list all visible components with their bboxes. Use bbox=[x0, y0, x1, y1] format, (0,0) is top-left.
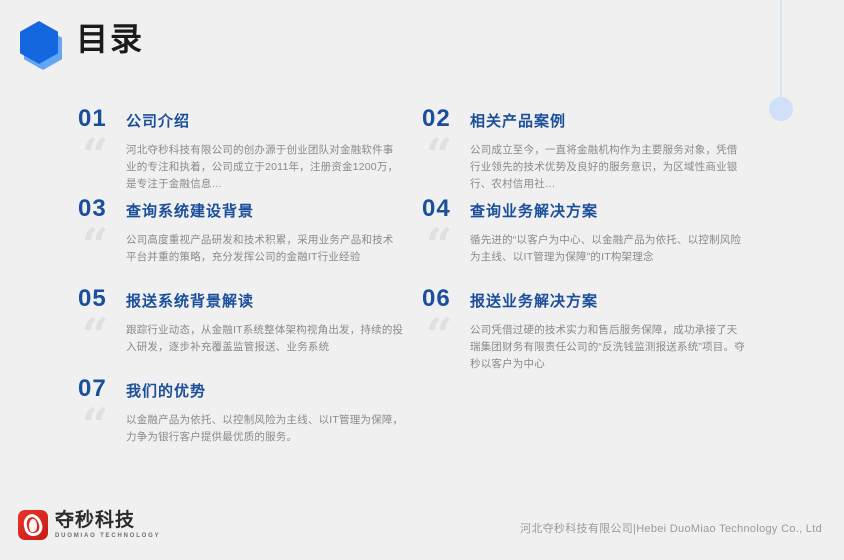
toc-item-06[interactable]: 06 报送业务解决方案 “ 公司凭借过硬的技术实力和售后服务保障，成功承接了天瑞… bbox=[422, 285, 844, 375]
toc-item-body: “ 循先进的“以客户为中心、以金融产品为依托、以控制风险为主线、以IT管理为保障… bbox=[470, 232, 748, 266]
toc-item-body: “ 以金融产品为依托、以控制风险为主线、以IT管理为保障，力争为银行客户提供最优… bbox=[126, 412, 404, 446]
quote-icon: “ bbox=[426, 228, 452, 262]
toc-item-01[interactable]: 01 公司介绍 “ 河北夺秒科技有限公司的创办源于创业团队对金融软件事业的专注和… bbox=[78, 105, 422, 195]
toc-item-body: “ 公司成立至今，一直将金融机构作为主要服务对象，凭借行业领先的技术优势及良好的… bbox=[470, 142, 748, 193]
toc-item-head: 05 报送系统背景解读 bbox=[78, 285, 422, 316]
toc-item-body: “ 跟踪行业动态，从金融IT系统整体架构视角出发，持续的投入研发，逐步补充覆盖监… bbox=[126, 322, 404, 356]
quote-icon: “ bbox=[426, 318, 452, 352]
toc-item-head: 02 相关产品案例 bbox=[422, 105, 844, 136]
toc-item-07[interactable]: 07 我们的优势 “ 以金融产品为依托、以控制风险为主线、以IT管理为保障，力争… bbox=[78, 375, 422, 465]
toc-item-description: 公司凭借过硬的技术实力和售后服务保障，成功承接了天瑞集团财务有限责任公司的“反洗… bbox=[470, 322, 748, 373]
toc-item-title[interactable]: 报送业务解决方案 bbox=[470, 288, 598, 316]
toc-item-description: 循先进的“以客户为中心、以金融产品为依托、以控制风险为主线、以IT管理为保障”的… bbox=[470, 232, 748, 266]
quote-icon: “ bbox=[82, 228, 108, 262]
toc-row: 07 我们的优势 “ 以金融产品为依托、以控制风险为主线、以IT管理为保障，力争… bbox=[0, 375, 844, 465]
toc-column-left: 03 查询系统建设背景 “ 公司高度重视产品研发和技术积累，采用业务产品和技术平… bbox=[0, 195, 422, 285]
toc-item-04[interactable]: 04 查询业务解决方案 “ 循先进的“以客户为中心、以金融产品为依托、以控制风险… bbox=[422, 195, 844, 285]
logo-text-block: 夺秒科技 DUOMIAO TECHNOLOGY bbox=[55, 511, 160, 539]
toc-column-right: 06 报送业务解决方案 “ 公司凭借过硬的技术实力和售后服务保障，成功承接了天瑞… bbox=[422, 285, 844, 375]
hexagon-icon bbox=[18, 18, 64, 66]
slide-header: 目录 bbox=[0, 0, 844, 80]
quote-icon: “ bbox=[82, 138, 108, 172]
toc-item-description: 公司高度重视产品研发和技术积累，采用业务产品和技术平台并重的策略，充分发挥公司的… bbox=[126, 232, 404, 266]
logo-english-name: DUOMIAO TECHNOLOGY bbox=[55, 533, 160, 539]
toc-content: 01 公司介绍 “ 河北夺秒科技有限公司的创办源于创业团队对金融软件事业的专注和… bbox=[0, 105, 844, 465]
toc-item-body: “ 公司凭借过硬的技术实力和售后服务保障，成功承接了天瑞集团财务有限责任公司的“… bbox=[470, 322, 748, 373]
toc-item-title[interactable]: 查询业务解决方案 bbox=[470, 198, 598, 226]
toc-item-title[interactable]: 相关产品案例 bbox=[470, 108, 566, 136]
toc-column-left: 01 公司介绍 “ 河北夺秒科技有限公司的创办源于创业团队对金融软件事业的专注和… bbox=[0, 105, 422, 195]
quote-icon: “ bbox=[82, 408, 108, 442]
toc-item-title[interactable]: 我们的优势 bbox=[126, 378, 206, 406]
toc-row: 01 公司介绍 “ 河北夺秒科技有限公司的创办源于创业团队对金融软件事业的专注和… bbox=[0, 105, 844, 195]
quote-icon: “ bbox=[82, 318, 108, 352]
slide-footer: 夺秒科技 DUOMIAO TECHNOLOGY 河北夺秒科技有限公司|Hebei… bbox=[0, 494, 844, 560]
toc-row: 05 报送系统背景解读 “ 跟踪行业动态，从金融IT系统整体架构视角出发，持续的… bbox=[0, 285, 844, 375]
company-logo: 夺秒科技 DUOMIAO TECHNOLOGY bbox=[18, 510, 160, 540]
page-title: 目录 bbox=[76, 17, 144, 61]
toc-item-05[interactable]: 05 报送系统背景解读 “ 跟踪行业动态，从金融IT系统整体架构视角出发，持续的… bbox=[78, 285, 422, 375]
toc-item-description: 公司成立至今，一直将金融机构作为主要服务对象，凭借行业领先的技术优势及良好的服务… bbox=[470, 142, 748, 193]
toc-item-description: 河北夺秒科技有限公司的创办源于创业团队对金融软件事业的专注和执着，公司成立于20… bbox=[126, 142, 404, 193]
toc-item-head: 04 查询业务解决方案 bbox=[422, 195, 844, 226]
toc-column-right: 02 相关产品案例 “ 公司成立至今，一直将金融机构作为主要服务对象，凭借行业领… bbox=[422, 105, 844, 195]
toc-item-head: 07 我们的优势 bbox=[78, 375, 422, 406]
toc-row: 03 查询系统建设背景 “ 公司高度重视产品研发和技术积累，采用业务产品和技术平… bbox=[0, 195, 844, 285]
toc-item-title[interactable]: 公司介绍 bbox=[126, 108, 190, 136]
toc-item-head: 01 公司介绍 bbox=[78, 105, 422, 136]
toc-item-body: “ 公司高度重视产品研发和技术积累，采用业务产品和技术平台并重的策略，充分发挥公… bbox=[126, 232, 404, 266]
toc-column-left: 05 报送系统背景解读 “ 跟踪行业动态，从金融IT系统整体架构视角出发，持续的… bbox=[0, 285, 422, 375]
slide-root: 目录 01 公司介绍 “ 河北夺秒科技有限公司的创办源于创业团队对金融软件事业的… bbox=[0, 0, 844, 560]
toc-item-03[interactable]: 03 查询系统建设背景 “ 公司高度重视产品研发和技术积累，采用业务产品和技术平… bbox=[78, 195, 422, 285]
duomiao-logo-icon bbox=[18, 510, 48, 540]
toc-column-right: 04 查询业务解决方案 “ 循先进的“以客户为中心、以金融产品为依托、以控制风险… bbox=[422, 195, 844, 285]
toc-item-body: “ 河北夺秒科技有限公司的创办源于创业团队对金融软件事业的专注和执着，公司成立于… bbox=[126, 142, 404, 193]
toc-item-head: 03 查询系统建设背景 bbox=[78, 195, 422, 226]
toc-column-right-empty bbox=[422, 375, 844, 465]
toc-column-left: 07 我们的优势 “ 以金融产品为依托、以控制风险为主线、以IT管理为保障，力争… bbox=[0, 375, 422, 465]
toc-item-description: 以金融产品为依托、以控制风险为主线、以IT管理为保障，力争为银行客户提供最优质的… bbox=[126, 412, 404, 446]
toc-item-head: 06 报送业务解决方案 bbox=[422, 285, 844, 316]
toc-item-description: 跟踪行业动态，从金融IT系统整体架构视角出发，持续的投入研发，逐步补充覆盖监管报… bbox=[126, 322, 404, 356]
quote-icon: “ bbox=[426, 138, 452, 172]
logo-chinese-name: 夺秒科技 bbox=[55, 511, 160, 530]
toc-item-02[interactable]: 02 相关产品案例 “ 公司成立至今，一直将金融机构作为主要服务对象，凭借行业领… bbox=[422, 105, 844, 195]
footer-company-line: 河北夺秒科技有限公司|Hebei DuoMiao Technology Co.,… bbox=[520, 520, 822, 536]
toc-item-title[interactable]: 报送系统背景解读 bbox=[126, 288, 254, 316]
toc-item-title[interactable]: 查询系统建设背景 bbox=[126, 198, 254, 226]
